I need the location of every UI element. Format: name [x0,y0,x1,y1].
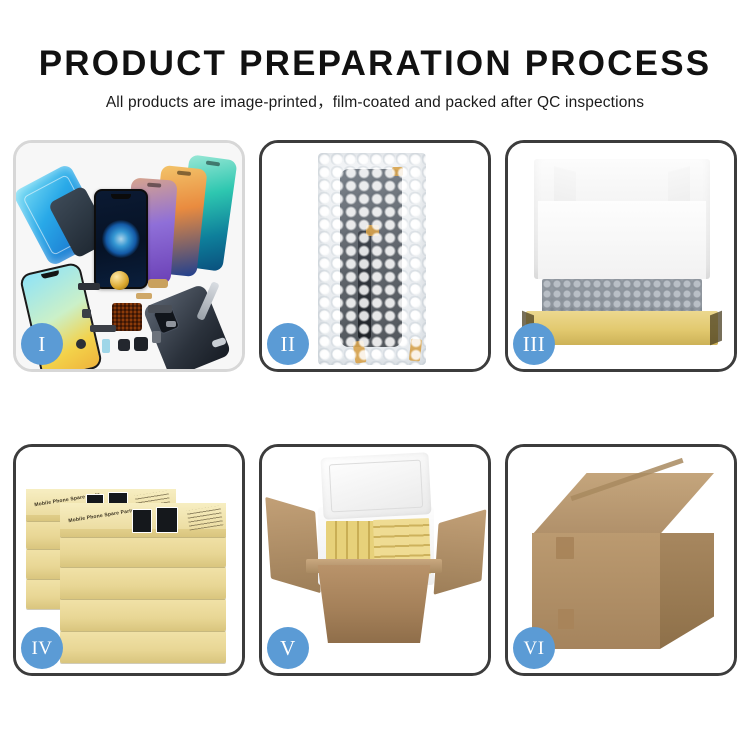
step-badge-4: IV [21,627,63,669]
foam-padding [538,201,706,279]
part-button [152,331,161,343]
step-panel-1: I [13,140,245,372]
part-screw [76,339,86,349]
carton-side-face [660,533,714,649]
box-layer-front-3 [60,567,226,599]
part-bracket [166,321,176,327]
step-panel-6: VI [505,444,737,676]
part-chip [82,309,91,318]
step-badge-3: III [513,323,555,365]
part-battery [102,339,110,353]
step-badge-5: V [267,627,309,669]
box-layer-front-1: Mobile Phone Spare Parts [60,503,226,537]
carton-flap-right [434,509,487,595]
part-ribbon [148,305,172,313]
carton-flap-left [265,497,320,594]
wrapped-flex-cable [358,231,371,339]
phone-backplate [142,283,232,369]
carton-tape-lower [558,609,574,629]
bubble-wrap-bag [318,153,426,365]
bubble-wrap-insert [542,279,702,315]
header: PRODUCT PREPARATION PROCESS All products… [0,0,750,112]
part-camera-module [118,339,130,351]
page-title: PRODUCT PREPARATION PROCESS [0,0,750,84]
box-layer-front-5 [60,631,226,663]
page-subtitle: All products are image-printed，film-coat… [0,84,750,112]
step-panel-2: II [259,140,491,372]
product-preparation-infographic: PRODUCT PREPARATION PROCESS All products… [0,0,750,750]
speaker-coil-part [110,271,129,290]
copper-grid-part [112,303,142,331]
tape-bottom-right [409,338,422,361]
step-panel-5: V [259,444,491,676]
step-panel-3: III [505,140,737,372]
box-layer-front-4 [60,599,226,631]
process-steps-grid: I II [13,140,737,688]
step-badge-6: VI [513,627,555,669]
tape-top [392,167,403,176]
carton-tape-upper [556,537,574,559]
step-badge-1: I [21,323,63,365]
carton-body [310,565,438,643]
part-gold-flex [136,293,152,299]
part-speaker [134,337,148,351]
box-window-3 [132,509,152,533]
part-strip [78,283,100,290]
box-layer-front-2 [60,535,226,567]
wrapped-screen [340,169,402,347]
box-window-4 [156,507,178,533]
carton-front-face [532,533,660,649]
tape-middle [366,225,379,236]
part-gold-connector [148,279,168,288]
step-panel-4: Mobile Phone Spare Parts Mobile Phone Sp… [13,444,245,676]
yellow-box-tray [526,311,718,345]
step-badge-2: II [267,323,309,365]
foam-box-lid [320,452,431,520]
part-flex-cable [90,325,116,332]
